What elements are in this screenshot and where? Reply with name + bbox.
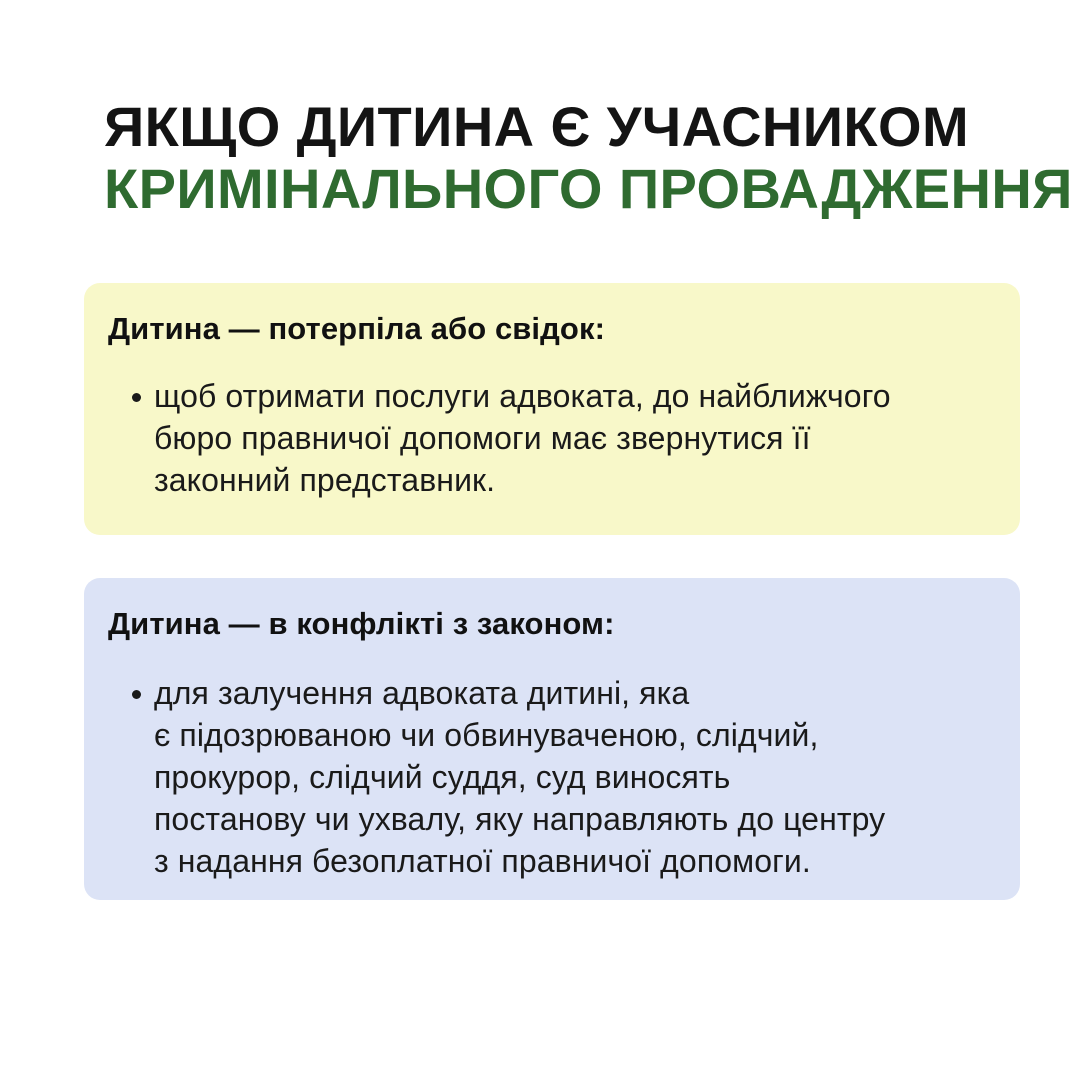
list-item-text: щоб отримати послуги адвоката, до найбли… (154, 375, 990, 501)
list-item-text: для залучення адвоката дитині, яка є під… (154, 672, 990, 882)
card-victim-or-witness: Дитина — потерпіла або свідок: щоб отрим… (84, 283, 1020, 535)
page-title: ЯКЩО ДИТИНА Є УЧАСНИКОМ КРИМІНАЛЬНОГО ПР… (104, 96, 1004, 220)
bullet-list-victim-or-witness: щоб отримати послуги адвоката, до найбли… (108, 375, 990, 501)
bullet-list-in-conflict-with-law: для залучення адвоката дитині, яка є під… (108, 672, 990, 882)
infographic-page: ЯКЩО ДИТИНА Є УЧАСНИКОМ КРИМІНАЛЬНОГО ПР… (0, 0, 1080, 1080)
bullet-dot-icon (132, 690, 141, 699)
list-item: для залучення адвоката дитині, яка є під… (108, 672, 990, 882)
bullet-dot-icon (132, 393, 141, 402)
page-title-line-2: КРИМІНАЛЬНОГО ПРОВАДЖЕННЯ (104, 158, 1004, 220)
card-in-conflict-with-law: Дитина — в конфлікті з законом: для залу… (84, 578, 1020, 900)
card-heading-victim-or-witness: Дитина — потерпіла або свідок: (108, 309, 990, 349)
list-item: щоб отримати послуги адвоката, до найбли… (108, 375, 990, 501)
card-heading-in-conflict-with-law: Дитина — в конфлікті з законом: (108, 604, 990, 644)
page-title-line-1: ЯКЩО ДИТИНА Є УЧАСНИКОМ (104, 96, 1004, 158)
